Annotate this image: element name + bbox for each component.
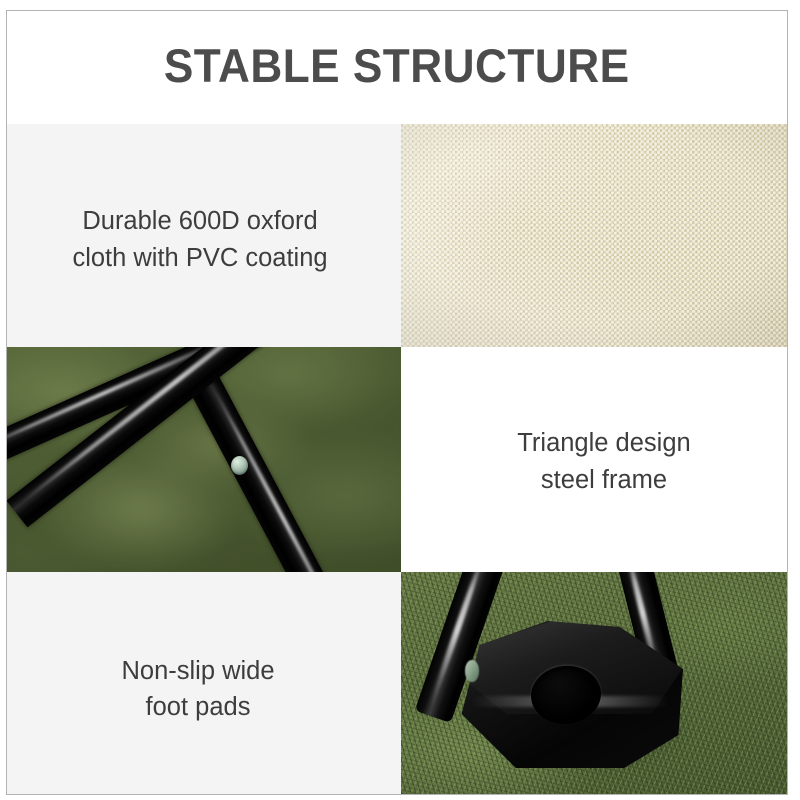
caption-line-1: Durable 600D oxford	[72, 203, 327, 239]
infographic-panel: STABLE STRUCTURE Durable 600D oxford clo…	[6, 10, 788, 795]
caption-triangle-frame: Triangle design steel frame	[517, 425, 690, 497]
caption-foot-pads: Non-slip wide foot pads	[121, 653, 274, 725]
feature-cell-triangle-frame: Triangle design steel frame	[401, 347, 787, 572]
feature-cell-oxford-cloth: Durable 600D oxford cloth with PVC coati…	[7, 124, 401, 347]
frame-rivet-bolt	[231, 456, 248, 475]
feature-cell-foot-pads: Non-slip wide foot pads	[7, 572, 401, 794]
caption-line-1: Non-slip wide	[121, 653, 274, 689]
caption-line-2: steel frame	[517, 462, 690, 498]
caption-line-1: Triangle design	[517, 425, 690, 461]
photo-foot-pad	[401, 572, 787, 794]
caption-oxford-cloth: Durable 600D oxford cloth with PVC coati…	[72, 203, 327, 275]
title-band: STABLE STRUCTURE	[7, 11, 787, 124]
photo-oxford-fabric	[401, 124, 787, 347]
caption-line-2: cloth with PVC coating	[72, 240, 327, 276]
caption-line-2: foot pads	[121, 689, 274, 725]
photo-steel-frame-joint	[7, 347, 401, 572]
fabric-vignette-overlay	[401, 124, 787, 347]
feature-grid: Durable 600D oxford cloth with PVC coati…	[7, 124, 787, 794]
foot-pad-screw	[465, 660, 479, 682]
page-title: STABLE STRUCTURE	[164, 42, 630, 93]
